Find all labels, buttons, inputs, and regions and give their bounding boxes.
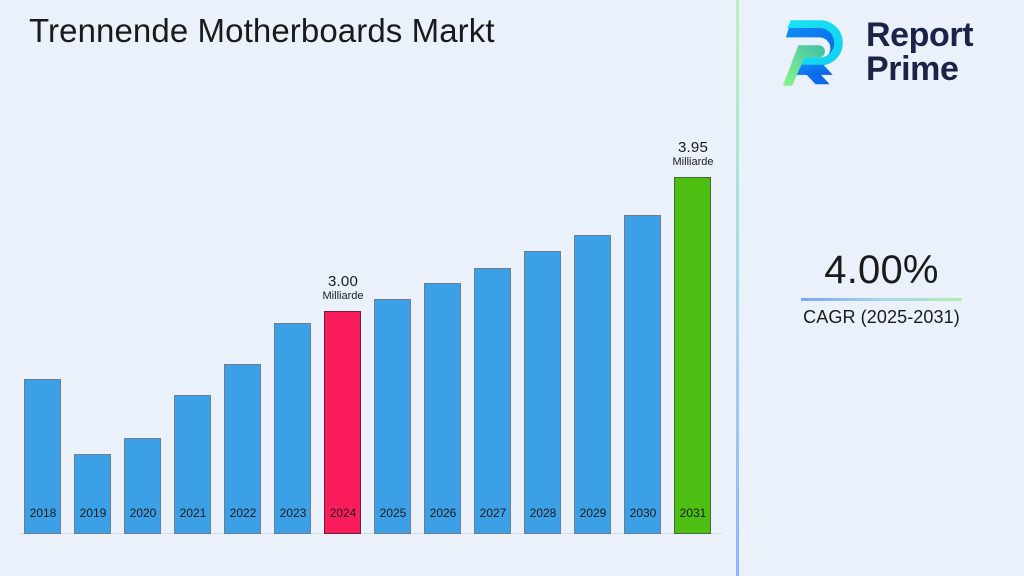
report-prime-logo[interactable]: Report Prime [775,14,973,92]
x-tick-2022: 2022 [218,506,268,520]
bar-2029[interactable] [574,235,611,534]
brand-wordmark: Report Prime [866,19,973,86]
bar-2030[interactable] [624,215,661,534]
bar-2023[interactable] [274,323,311,534]
chart-panel: Trennende Motherboards Markt 20182019202… [0,0,737,576]
x-tick-2026: 2026 [418,506,468,520]
bar-value-2031: 3.95 [668,140,718,156]
bar-value-label-2031: 3.95Milliarde [668,140,718,169]
x-tick-2029: 2029 [568,506,618,520]
bar-value-2024: 3.00 [318,274,368,290]
bar-value-label-2024: 3.00Milliarde [318,274,368,303]
bar-chart: 20182019202020212022202320243.00Milliard… [0,0,737,576]
bar-unit-2024: Milliarde [318,291,368,303]
x-tick-2031: 2031 [668,506,718,520]
bar-2028[interactable] [524,251,561,534]
brand-line-2: Prime [866,53,973,87]
bar-2026[interactable] [424,283,461,534]
x-tick-2024: 2024 [318,506,368,520]
cagr-caption: CAGR (2025-2031) [739,307,1024,328]
cagr-divider-rule [801,298,962,301]
report-prime-r-monogram-icon [775,14,853,92]
x-tick-2025: 2025 [368,506,418,520]
bar-2025[interactable] [374,299,411,534]
x-tick-2018: 2018 [18,506,68,520]
x-tick-2023: 2023 [268,506,318,520]
x-tick-2020: 2020 [118,506,168,520]
x-tick-2019: 2019 [68,506,118,520]
bar-2031[interactable] [674,177,711,534]
cagr-value: 4.00% [739,248,1024,292]
x-tick-2028: 2028 [518,506,568,520]
x-tick-2030: 2030 [618,506,668,520]
bar-2027[interactable] [474,268,511,534]
brand-line-1: Report [866,19,973,53]
bar-unit-2031: Milliarde [668,157,718,169]
bar-2024[interactable] [324,311,361,534]
infographic-canvas: Trennende Motherboards Markt 20182019202… [0,0,1024,576]
cagr-block: 4.00% CAGR (2025-2031) [739,248,1024,328]
x-tick-2027: 2027 [468,506,518,520]
bar-2019[interactable] [74,454,111,534]
x-tick-2021: 2021 [168,506,218,520]
brand-panel: Report Prime 4.00% CAGR (2025-2031) [739,0,1024,576]
